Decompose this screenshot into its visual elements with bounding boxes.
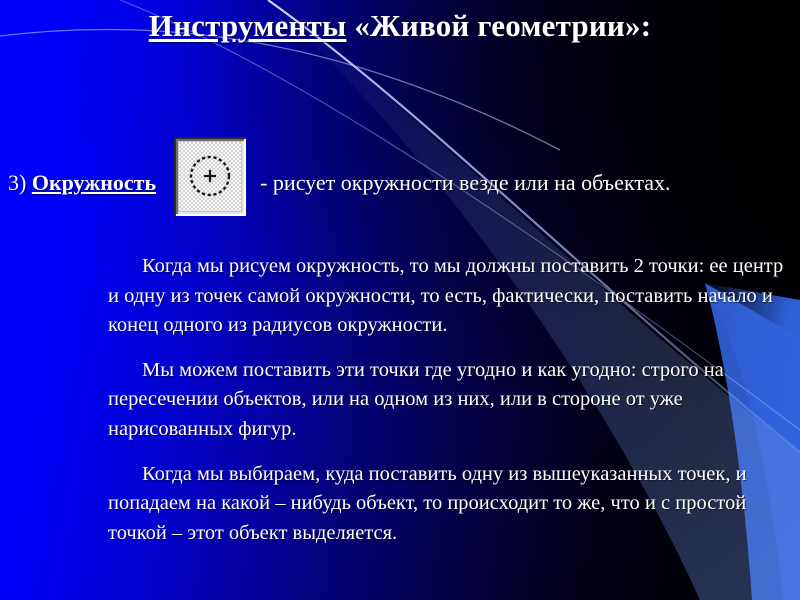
circle-tool-icon[interactable] xyxy=(174,137,246,216)
page-title: Инструменты «Живой геометрии»: xyxy=(0,8,800,44)
tool-item-number: 3) xyxy=(8,170,32,195)
body-paragraph: Когда мы выбираем, куда поставить одну и… xyxy=(108,460,794,549)
body-text: Когда мы рисуем окружность, то мы должны… xyxy=(108,252,794,548)
body-paragraph: Когда мы рисуем окружность, то мы должны… xyxy=(108,252,794,341)
tool-item-block: 3) Окружность - рисует окружности везде … xyxy=(8,137,792,216)
page-title-rest: «Живой геометрии»: xyxy=(346,8,651,43)
tool-item-description: - рисует окружности везде или на объекта… xyxy=(260,170,670,195)
body-paragraph: Мы можем поставить эти точки где угодно … xyxy=(108,356,794,445)
presentation-slide: Инструменты «Живой геометрии»: 3) Окружн… xyxy=(0,0,800,600)
circle-glyph xyxy=(174,137,246,216)
tool-item-name: Окружность xyxy=(32,170,156,195)
slide-content: Инструменты «Живой геометрии»: 3) Окружн… xyxy=(0,0,800,600)
page-title-underlined-word: Инструменты xyxy=(149,8,347,43)
